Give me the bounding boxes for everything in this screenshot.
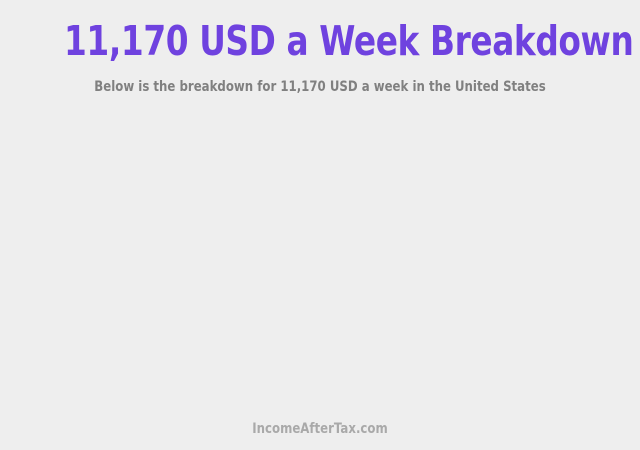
page-subtitle: Below is the breakdown for 11,170 USD a … [51, 64, 589, 96]
page-root: 11,170 USD a Week Breakdown Below is the… [0, 0, 640, 450]
footer-brand-label: IncomeAfterTax.com [51, 420, 589, 438]
page-footer: IncomeAfterTax.com [0, 420, 640, 450]
content-body [0, 96, 640, 420]
page-header: 11,170 USD a Week Breakdown Below is the… [0, 0, 640, 96]
page-title: 11,170 USD a Week Breakdown [64, 18, 576, 64]
